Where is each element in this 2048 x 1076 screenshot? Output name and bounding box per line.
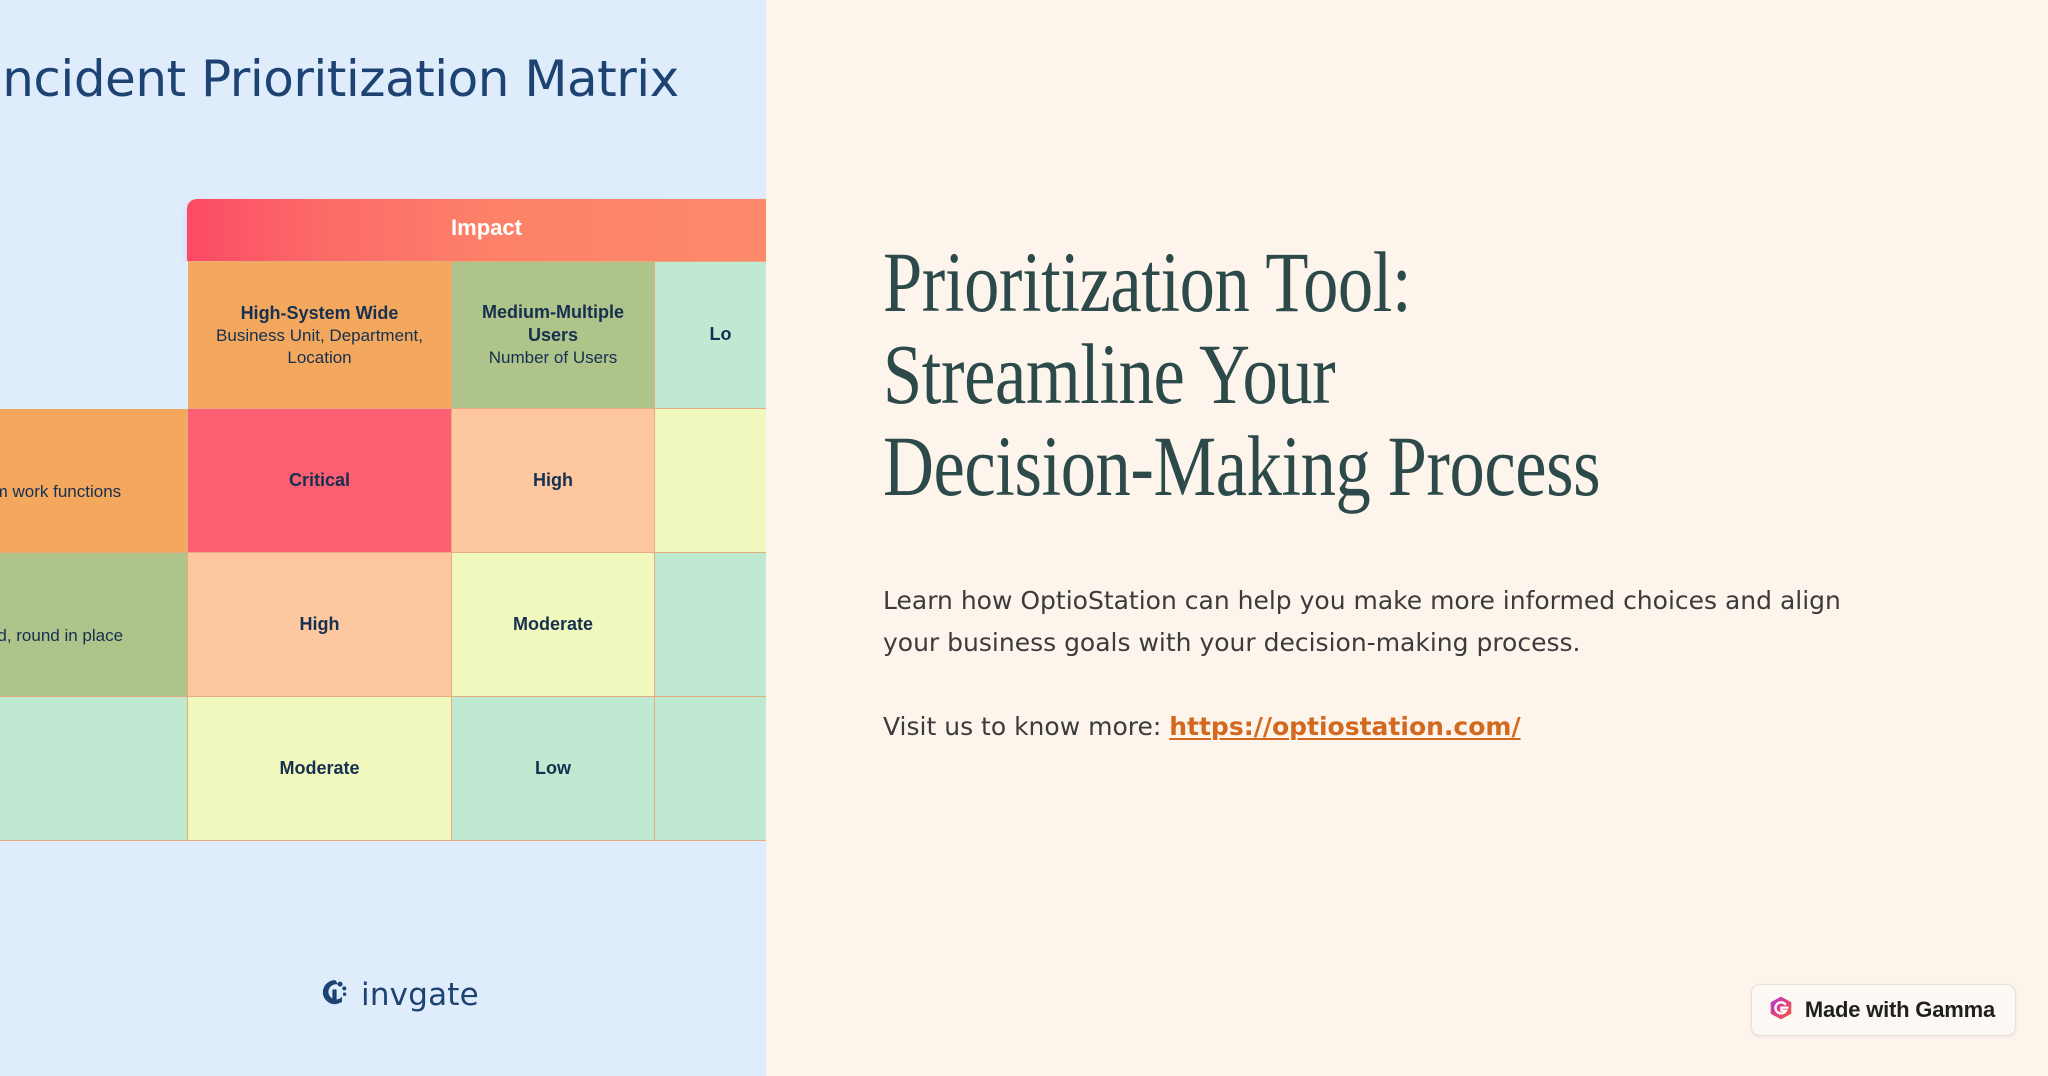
matrix-cell xyxy=(655,409,767,553)
invgate-wordmark: invgate xyxy=(361,977,479,1013)
column-header-medium-subtitle: Number of Users xyxy=(460,347,646,369)
invgate-logo-icon xyxy=(318,975,352,1014)
row-header-low-subtitle: onvenient xyxy=(0,769,179,791)
matrix-cell: High xyxy=(452,409,655,553)
row-header-high-title: High xyxy=(0,458,179,481)
matrix-row-medium: edium tions impaired, round in place Hig… xyxy=(0,553,766,697)
right-content: Prioritization Tool: Streamline Your Dec… xyxy=(883,236,1938,766)
row-header-low: Low onvenient xyxy=(0,697,188,841)
column-header-medium-title: Medium-Multiple Users xyxy=(460,301,646,347)
row-header-medium-subtitle: tions impaired, round in place xyxy=(0,625,179,647)
matrix-corner-cell xyxy=(0,262,188,409)
gamma-badge-label: Made with Gamma xyxy=(1805,997,1995,1023)
matrix-row-high: High onger perform work functions Critic… xyxy=(0,409,766,553)
impact-header-bar: Impact xyxy=(187,199,766,261)
headline: Prioritization Tool: Streamline Your Dec… xyxy=(883,236,1933,512)
column-header-low: Lo xyxy=(655,262,767,409)
page-title: Incident Prioritization Matrix xyxy=(0,50,766,108)
matrix-row-low: Low onvenient Moderate Low xyxy=(0,697,766,841)
visit-prefix: Visit us to know more: xyxy=(883,712,1169,741)
headline-line-1: Prioritization Tool: xyxy=(883,234,1411,330)
matrix-cell: High xyxy=(188,553,452,697)
matrix-grid: High-System Wide Business Unit, Departme… xyxy=(0,261,766,841)
matrix-cell-label: Moderate xyxy=(279,758,359,778)
row-header-low-title: Low xyxy=(0,746,179,769)
column-header-high: High-System Wide Business Unit, Departme… xyxy=(188,262,452,409)
visit-line: Visit us to know more: https://optiostat… xyxy=(883,712,1938,741)
matrix-cell xyxy=(655,697,767,841)
column-header-high-title: High-System Wide xyxy=(196,302,443,325)
matrix-cell: Moderate xyxy=(188,697,452,841)
headline-line-2: Streamline Your xyxy=(883,326,1335,422)
column-header-low-title: Lo xyxy=(663,323,766,346)
matrix-cell-label: Critical xyxy=(289,470,350,490)
row-header-high-subtitle: onger perform work functions xyxy=(0,481,179,503)
matrix-column-header-row: High-System Wide Business Unit, Departme… xyxy=(0,262,766,409)
row-header-medium-title: edium xyxy=(0,602,179,625)
row-header-medium: edium tions impaired, round in place xyxy=(0,553,188,697)
matrix-cell-label: High xyxy=(300,614,340,634)
column-header-medium: Medium-Multiple Users Number of Users xyxy=(452,262,655,409)
body-paragraph: Learn how OptioStation can help you make… xyxy=(883,580,1883,664)
row-header-high: High onger perform work functions xyxy=(0,409,188,553)
invgate-logo: invgate xyxy=(318,975,479,1014)
left-panel: Incident Prioritization Matrix Impact Hi… xyxy=(0,0,766,1076)
matrix-cell-label: Low xyxy=(535,758,571,778)
matrix-cell xyxy=(655,553,767,697)
right-panel: Prioritization Tool: Streamline Your Dec… xyxy=(766,0,2048,1076)
matrix-cell-label: High xyxy=(533,470,573,490)
made-with-gamma-badge[interactable]: Made with Gamma xyxy=(1751,984,2016,1036)
matrix-cell-label: Moderate xyxy=(513,614,593,634)
matrix-cell: Low xyxy=(452,697,655,841)
column-header-high-subtitle: Business Unit, Department, Location xyxy=(196,325,443,369)
matrix-cell: Critical xyxy=(188,409,452,553)
slide-root: Incident Prioritization Matrix Impact Hi… xyxy=(0,0,2048,1076)
optiostation-link[interactable]: https://optiostation.com/ xyxy=(1169,712,1520,741)
gamma-logo-icon xyxy=(1768,995,1794,1026)
headline-line-3: Decision-Making Process xyxy=(883,418,1600,514)
matrix-cell: Moderate xyxy=(452,553,655,697)
